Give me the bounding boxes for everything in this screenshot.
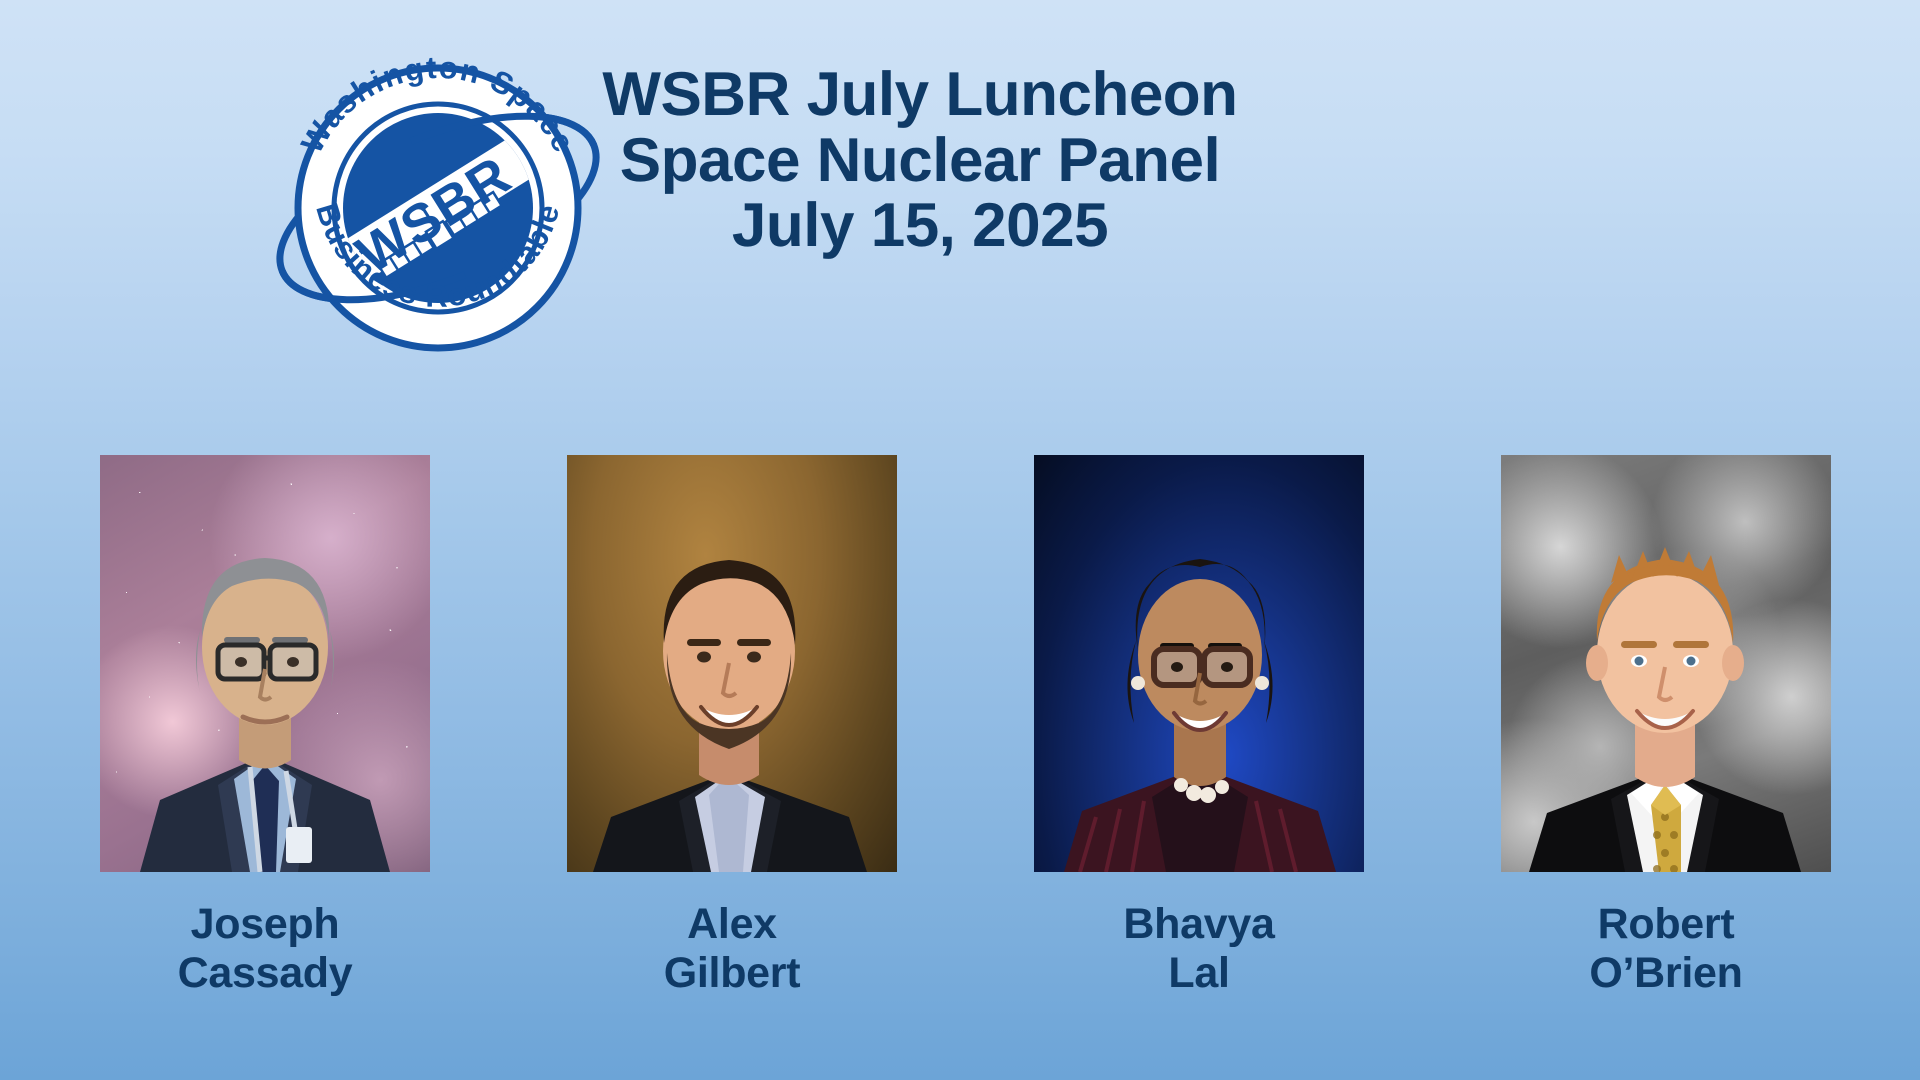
portrait-robert-obrien [1501, 455, 1831, 872]
portrait-bhavya-lal [1034, 455, 1364, 872]
panelist-last-name: Lal [1034, 949, 1364, 998]
panelist-last-name: O’Brien [1501, 949, 1831, 998]
portrait-joseph-cassady [100, 455, 430, 872]
panelist-first-name: Alex [567, 900, 897, 949]
title-line-1: WSBR July Luncheon [560, 62, 1280, 128]
panelist-card: Joseph Cassady [100, 455, 430, 999]
panelist-card: Bhavya Lal [1034, 455, 1364, 999]
page-title: WSBR July Luncheon Space Nuclear Panel J… [560, 62, 1280, 259]
panelist-name: Alex Gilbert [567, 900, 897, 999]
panelist-first-name: Joseph [100, 900, 430, 949]
header: WSBR Washington Space Business Roundtabl… [0, 0, 1920, 400]
event-announcement-graphic: WSBR Washington Space Business Roundtabl… [0, 0, 1920, 1080]
panelist-card: Robert O’Brien [1501, 455, 1831, 999]
panelist-row: Joseph Cassady [0, 455, 1920, 1015]
panelist-name: Bhavya Lal [1034, 900, 1364, 999]
portrait-alex-gilbert [567, 455, 897, 872]
panelist-first-name: Robert [1501, 900, 1831, 949]
panelist-name: Joseph Cassady [100, 900, 430, 999]
panelist-card: Alex Gilbert [567, 455, 897, 999]
title-line-3: July 15, 2025 [560, 193, 1280, 259]
panelist-last-name: Cassady [100, 949, 430, 998]
panelist-first-name: Bhavya [1034, 900, 1364, 949]
panelist-last-name: Gilbert [567, 949, 897, 998]
title-line-2: Space Nuclear Panel [560, 128, 1280, 194]
panelist-name: Robert O’Brien [1501, 900, 1831, 999]
